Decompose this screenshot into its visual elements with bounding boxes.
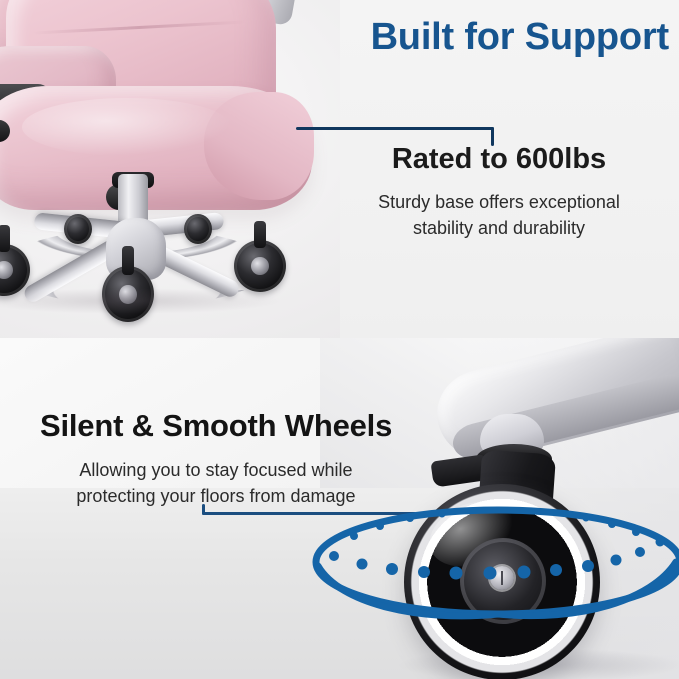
chair-caster-wheel <box>234 240 286 292</box>
caster-stem <box>254 221 266 248</box>
chair-seat-highlight <box>22 98 232 156</box>
hero-title: Built for Support <box>334 16 669 59</box>
connector-line-horizontal <box>296 127 494 130</box>
caster-stem <box>0 225 10 252</box>
office-chair-image <box>0 0 346 338</box>
orbit-ring-front-sweep <box>318 562 676 616</box>
caster-stem <box>122 246 134 275</box>
caster-tyre <box>64 214 92 244</box>
chair-caster-wheel <box>184 214 212 244</box>
caster-tyre <box>184 214 212 244</box>
feature-title-rated-to-600lbs: Rated to 600lbs <box>334 143 664 176</box>
chair-floor-shadow <box>0 288 284 314</box>
marketing-image: Built for Support Rated to 600lbs Sturdy… <box>0 0 679 679</box>
caster-wheel-image <box>300 348 679 679</box>
panel-bottom: Silent & Smooth Wheels Allowing you to s… <box>0 338 679 679</box>
chair-caster-wheel <box>64 214 92 244</box>
feature-subtitle-rated-to-600lbs: Sturdy base offers exceptional stability… <box>332 189 666 241</box>
blue-orbit-ring-graphic <box>300 496 679 636</box>
panel-top: Built for Support Rated to 600lbs Sturdy… <box>0 0 679 338</box>
caster-hub <box>251 257 269 275</box>
